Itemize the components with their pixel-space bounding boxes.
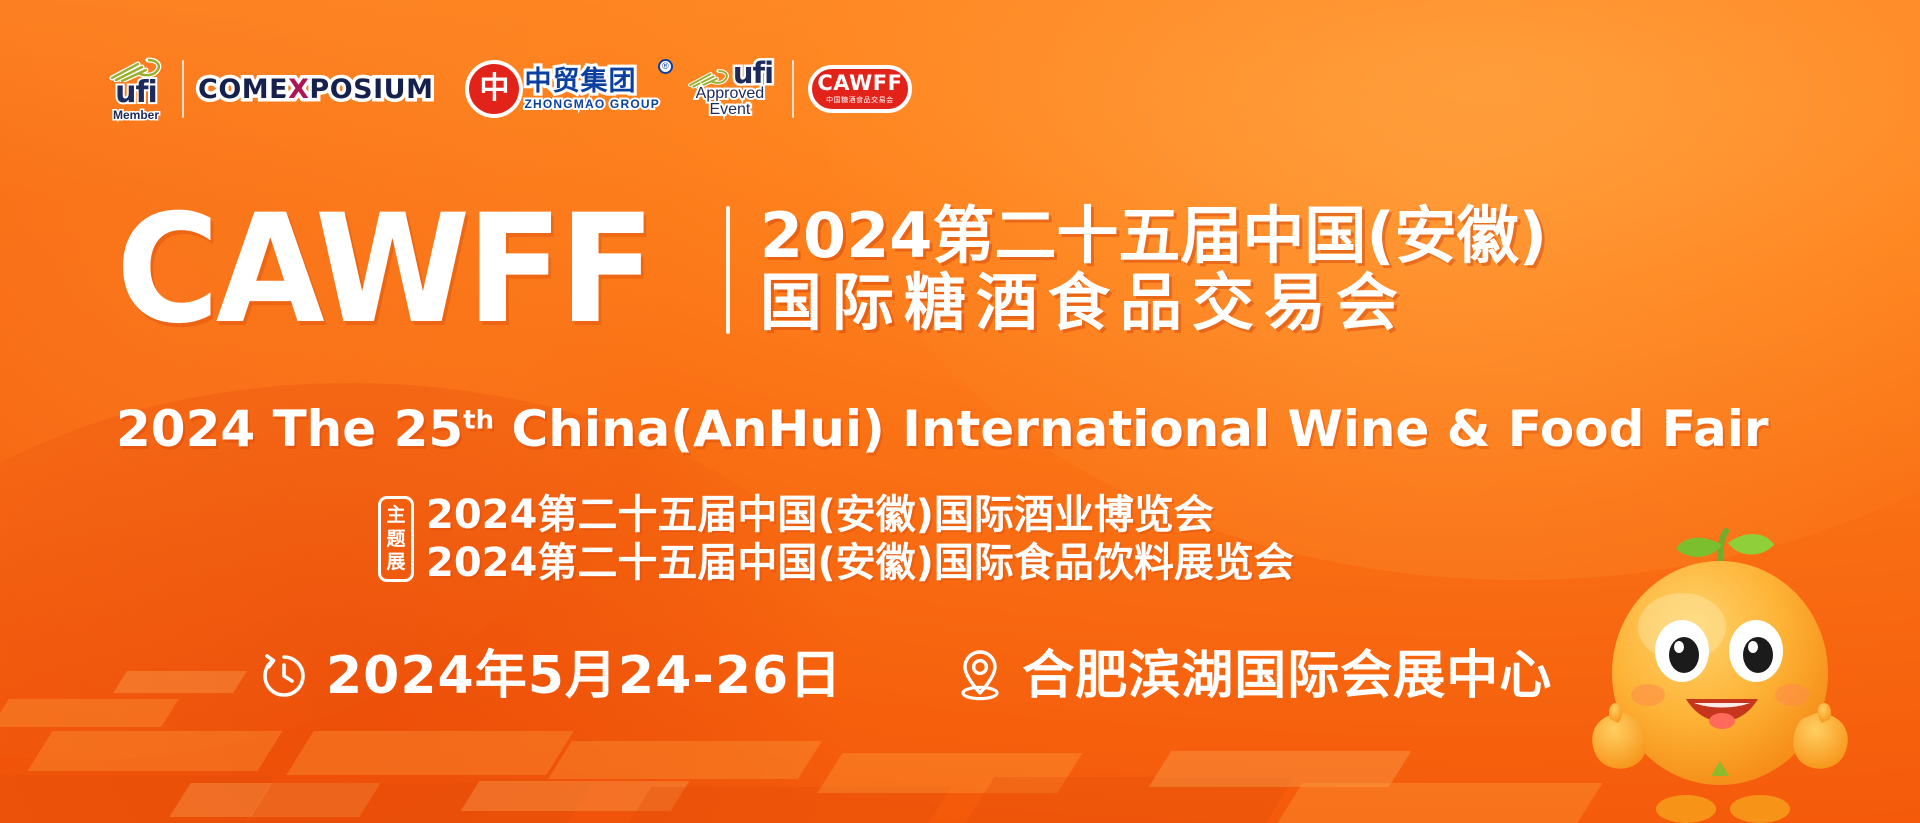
theme-tag-char-1: 主 [386,505,405,526]
registered-mark-icon: ® [658,59,673,74]
zhongmao-cn-name: 中贸集团 [524,68,659,95]
ufi-approved-label-2: Event [709,102,750,118]
clock-history-icon [258,650,310,702]
theme-exhibitions: 主 题 展 2024第二十五届中国(安徽)国际酒业博览会 2024第二十五届中国… [378,494,1294,585]
mascot-leaf-left-icon [1676,538,1722,557]
sponsor-logo-bar: ufi Member COMEXPOSIUM 中 中贸集团 ZHONGMAO G… [104,52,912,126]
headline-english-subtitle: 2024 The 25th China(AnHui) International… [116,400,1769,458]
comexposium-part1: COME [198,74,288,105]
theme-exhibition-tag: 主 题 展 [378,496,414,582]
headline-divider [726,206,730,334]
mascot-foot-right [1730,795,1790,823]
subtitle-post: China(AnHui) International Wine & Food F… [494,400,1768,458]
event-date: 2024年5月24-26日 [258,650,842,702]
comexposium-x-accent: X [288,74,309,105]
zhongmao-dragon-mark-icon: 中 [469,64,519,114]
headline-cn-line-2: 国际糖酒食品交易会 [760,270,1547,337]
zhongmao-en-name: ZHONGMAO GROUP [524,97,659,111]
theme-tag-char-2: 题 [386,529,405,550]
ufi-approved-label-1: Approved [696,86,765,102]
mascot-cheek-left [1631,684,1665,706]
logo-cawff-badge[interactable]: CAWFF 中国糖酒食品交易会 [808,52,912,126]
zhongmao-mark-char: 中 [479,74,509,104]
comexposium-part2: POSIUM [309,74,433,105]
theme-exhibition-line-1: 2024第二十五届中国(安徽)国际酒业博览会 [426,494,1294,536]
ufi-approved-wordmark: ufi [733,60,773,86]
map-pin-icon [954,648,1006,704]
subtitle-ordinal: th [463,405,494,435]
logo-divider-1 [182,60,184,118]
event-venue: 合肥滨湖国际会展中心 [954,648,1552,704]
logo-divider-3 [792,60,794,118]
mascot-leaf-right-icon [1728,534,1774,554]
cawff-badge-acronym: CAWFF [817,73,902,94]
ufi-member-wordmark: ufi [115,79,157,107]
logo-ufi-member[interactable]: ufi Member [104,52,168,126]
orange-fruit-mascot [1570,523,1880,823]
event-info-row: 2024年5月24-26日 合肥滨湖国际会展中心 [258,648,1552,704]
event-venue-text: 合肥滨湖国际会展中心 [1022,650,1552,702]
headline-cn-line-1: 2024第二十五届中国(安徽) [760,203,1547,270]
logo-ufi-approved-event[interactable]: ufi Approved Event [682,52,778,126]
theme-exhibition-line-2: 2024第二十五届中国(安徽)国际食品饮料展览会 [426,542,1294,584]
subtitle-pre: 2024 The 25 [116,400,463,458]
headline: CAWFF 2024第二十五届中国(安徽) 国际糖酒食品交易会 [116,195,1547,345]
logo-comexposium[interactable]: COMEXPOSIUM [198,52,433,126]
event-date-text: 2024年5月24-26日 [326,650,842,702]
logo-zhongmao-group[interactable]: 中 中贸集团 ZHONGMAO GROUP ® [469,52,659,126]
page-title-acronym: CAWFF [116,195,652,345]
banner-stage: ufi Member COMEXPOSIUM 中 中贸集团 ZHONGMAO G… [0,0,1920,823]
ufi-member-label: Member [113,108,159,122]
theme-tag-char-3: 展 [386,552,405,573]
cawff-badge-subtitle: 中国糖酒食品交易会 [826,95,894,105]
mascot-cheek-right [1775,684,1809,706]
mascot-foot-left [1656,795,1716,823]
